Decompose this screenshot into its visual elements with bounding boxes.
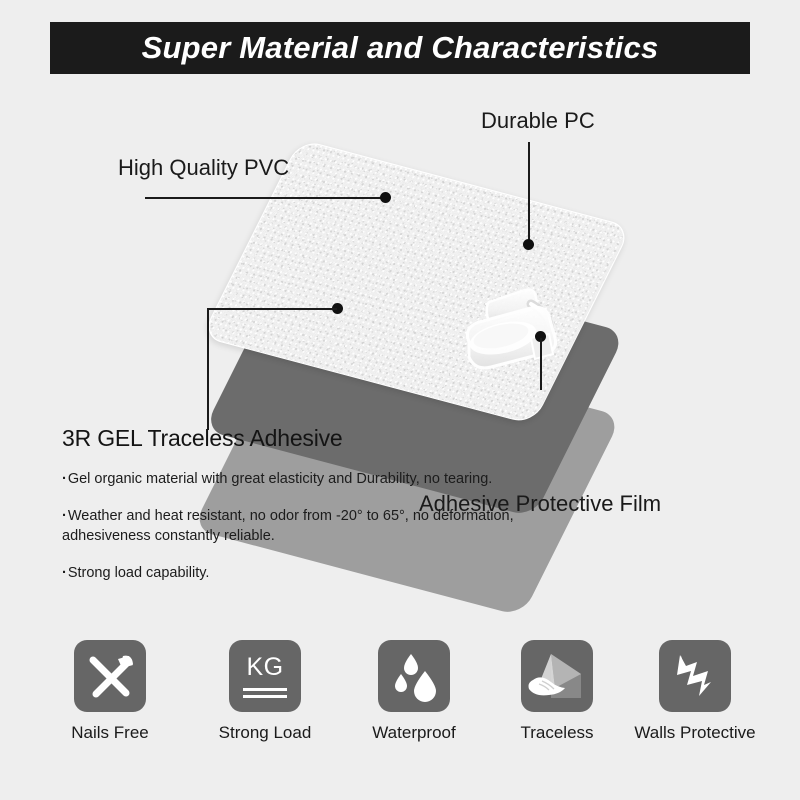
feature-bullet-text: Gel organic material with great elastici… (68, 471, 492, 487)
feature-block-title: 3R GEL Traceless Adhesive (62, 425, 532, 452)
feature-icon-label: Nails Free (35, 723, 185, 743)
icon-tile (378, 640, 450, 712)
feature-icon-label: Waterproof (339, 723, 489, 743)
product-exploded-view: High Quality PVC Durable PC Adhesive Pro… (0, 95, 800, 435)
feature-bullet-item: ·Gel organic material with great elastic… (62, 469, 532, 489)
feature-bullet-item: ·Strong load capability. (62, 563, 532, 583)
icon-tile (74, 640, 146, 712)
leader-line-protective-film (540, 338, 542, 390)
leader-line-gel-adhesive-horizontal (207, 308, 337, 310)
hand-peeling-film-icon (521, 640, 593, 712)
feature-bullet-text: Strong load capability. (68, 565, 210, 581)
feature-text-block: 3R GEL Traceless Adhesive ·Gel organic m… (62, 425, 532, 583)
lightning-crack-icon (659, 640, 731, 712)
feature-item-nails-free: Nails Free (35, 640, 185, 743)
kg-text: KG (229, 653, 301, 682)
callout-dot-high-quality-pvc (380, 192, 391, 203)
feature-bullet-item: ·Weather and heat resistant, no odor fro… (62, 506, 532, 546)
bullet-marker: · (62, 508, 67, 524)
water-drops-icon (378, 640, 450, 712)
feature-icon-row: Nails Free KG Strong Load (0, 640, 800, 770)
feature-item-walls-protective: Walls Protective (620, 640, 770, 743)
icon-tile: KG (229, 640, 301, 712)
infographic-canvas: Super Material and Characteristics (0, 0, 800, 800)
title-banner: Super Material and Characteristics (50, 22, 750, 74)
crossed-hammer-icon (74, 640, 146, 712)
icon-tile (659, 640, 731, 712)
adhesive-hook (455, 280, 585, 385)
feature-icon-label: Strong Load (190, 723, 340, 743)
callout-label-durable-pc: Durable PC (481, 108, 595, 134)
kg-weight-icon: KG (229, 640, 301, 712)
page-title: Super Material and Characteristics (142, 30, 659, 66)
leader-line-durable-pc (528, 142, 530, 245)
kg-underline-bottom (243, 695, 287, 698)
leader-line-high-quality-pvc (145, 197, 385, 199)
callout-dot-durable-pc (523, 239, 534, 250)
leader-line-gel-adhesive-vertical (207, 308, 209, 430)
feature-item-traceless: Traceless (482, 640, 632, 743)
feature-icon-label: Walls Protective (620, 723, 770, 743)
callout-label-high-quality-pvc: High Quality PVC (118, 155, 289, 181)
feature-bullet-text: Weather and heat resistant, no odor from… (62, 508, 514, 544)
bullet-marker: · (62, 471, 67, 487)
feature-icon-label: Traceless (482, 723, 632, 743)
bullet-marker: · (62, 565, 67, 581)
icon-tile (521, 640, 593, 712)
kg-underline-top (243, 688, 287, 691)
feature-item-waterproof: Waterproof (339, 640, 489, 743)
feature-item-strong-load: KG Strong Load (190, 640, 340, 743)
